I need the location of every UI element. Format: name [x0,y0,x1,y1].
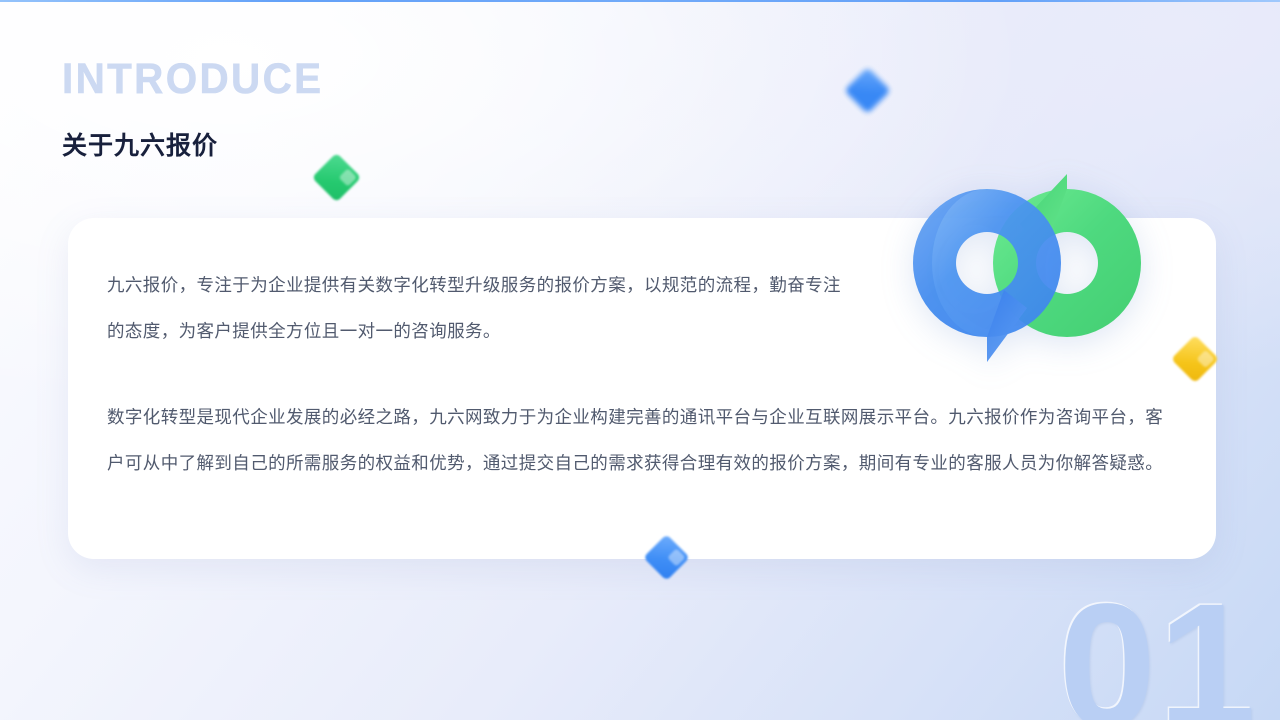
diamond-gleam [667,548,685,566]
section-number-watermark: 01 [1058,578,1258,720]
page-title: 关于九六报价 [62,131,218,161]
top-accent-rule [0,0,1280,2]
paragraph-1: 九六报价，专注于为企业提供有关数字化转型升级服务的报价方案，以规范的流程，勤奋专… [107,262,852,354]
diamond-gleam [1196,350,1214,368]
96-logo-icon [898,166,1150,374]
paragraph-2: 数字化转型是现代企业发展的必经之路，九六网致力于为企业构建完善的通讯平台与企业互… [107,394,1167,486]
diamond-blue-top-icon [844,67,891,114]
slide-canvas: INTRODUCE 关于九六报价 九六报价，专注于为企业提供有关数字化转型升级服… [0,0,1280,720]
diamond-green-icon [312,153,361,202]
diamond-gleam [339,168,357,186]
eyebrow-label: INTRODUCE [62,58,323,101]
